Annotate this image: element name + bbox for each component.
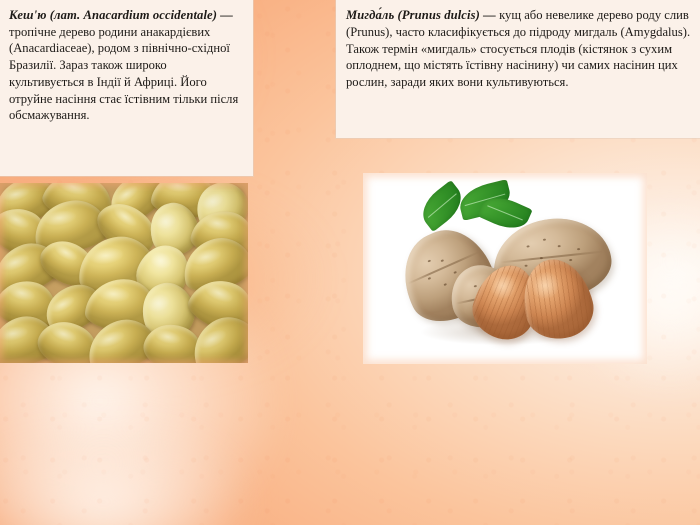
cashew-nuts-photo: [0, 183, 248, 363]
almond-term: Мигда́ль (Prunus dulcis): [346, 8, 480, 22]
almond-term-dash: —: [480, 8, 499, 22]
cashew-photo-soft-edge: [0, 183, 248, 363]
almond-photo-soft-edge: [363, 173, 647, 364]
almond-description-panel: Мигда́ль (Prunus dulcis) — кущ або невел…: [336, 0, 700, 138]
cashew-term: Кеш'ю (лат. Anacardium occidentale): [9, 8, 217, 22]
cashew-description-panel: Кеш'ю (лат. Anacardium occidentale) — тр…: [0, 0, 253, 176]
cashew-description-text: тропічне дерево родини анакардієвих (Ana…: [9, 25, 238, 123]
cashew-term-dash: —: [217, 8, 233, 22]
almonds-photo: [363, 173, 647, 364]
